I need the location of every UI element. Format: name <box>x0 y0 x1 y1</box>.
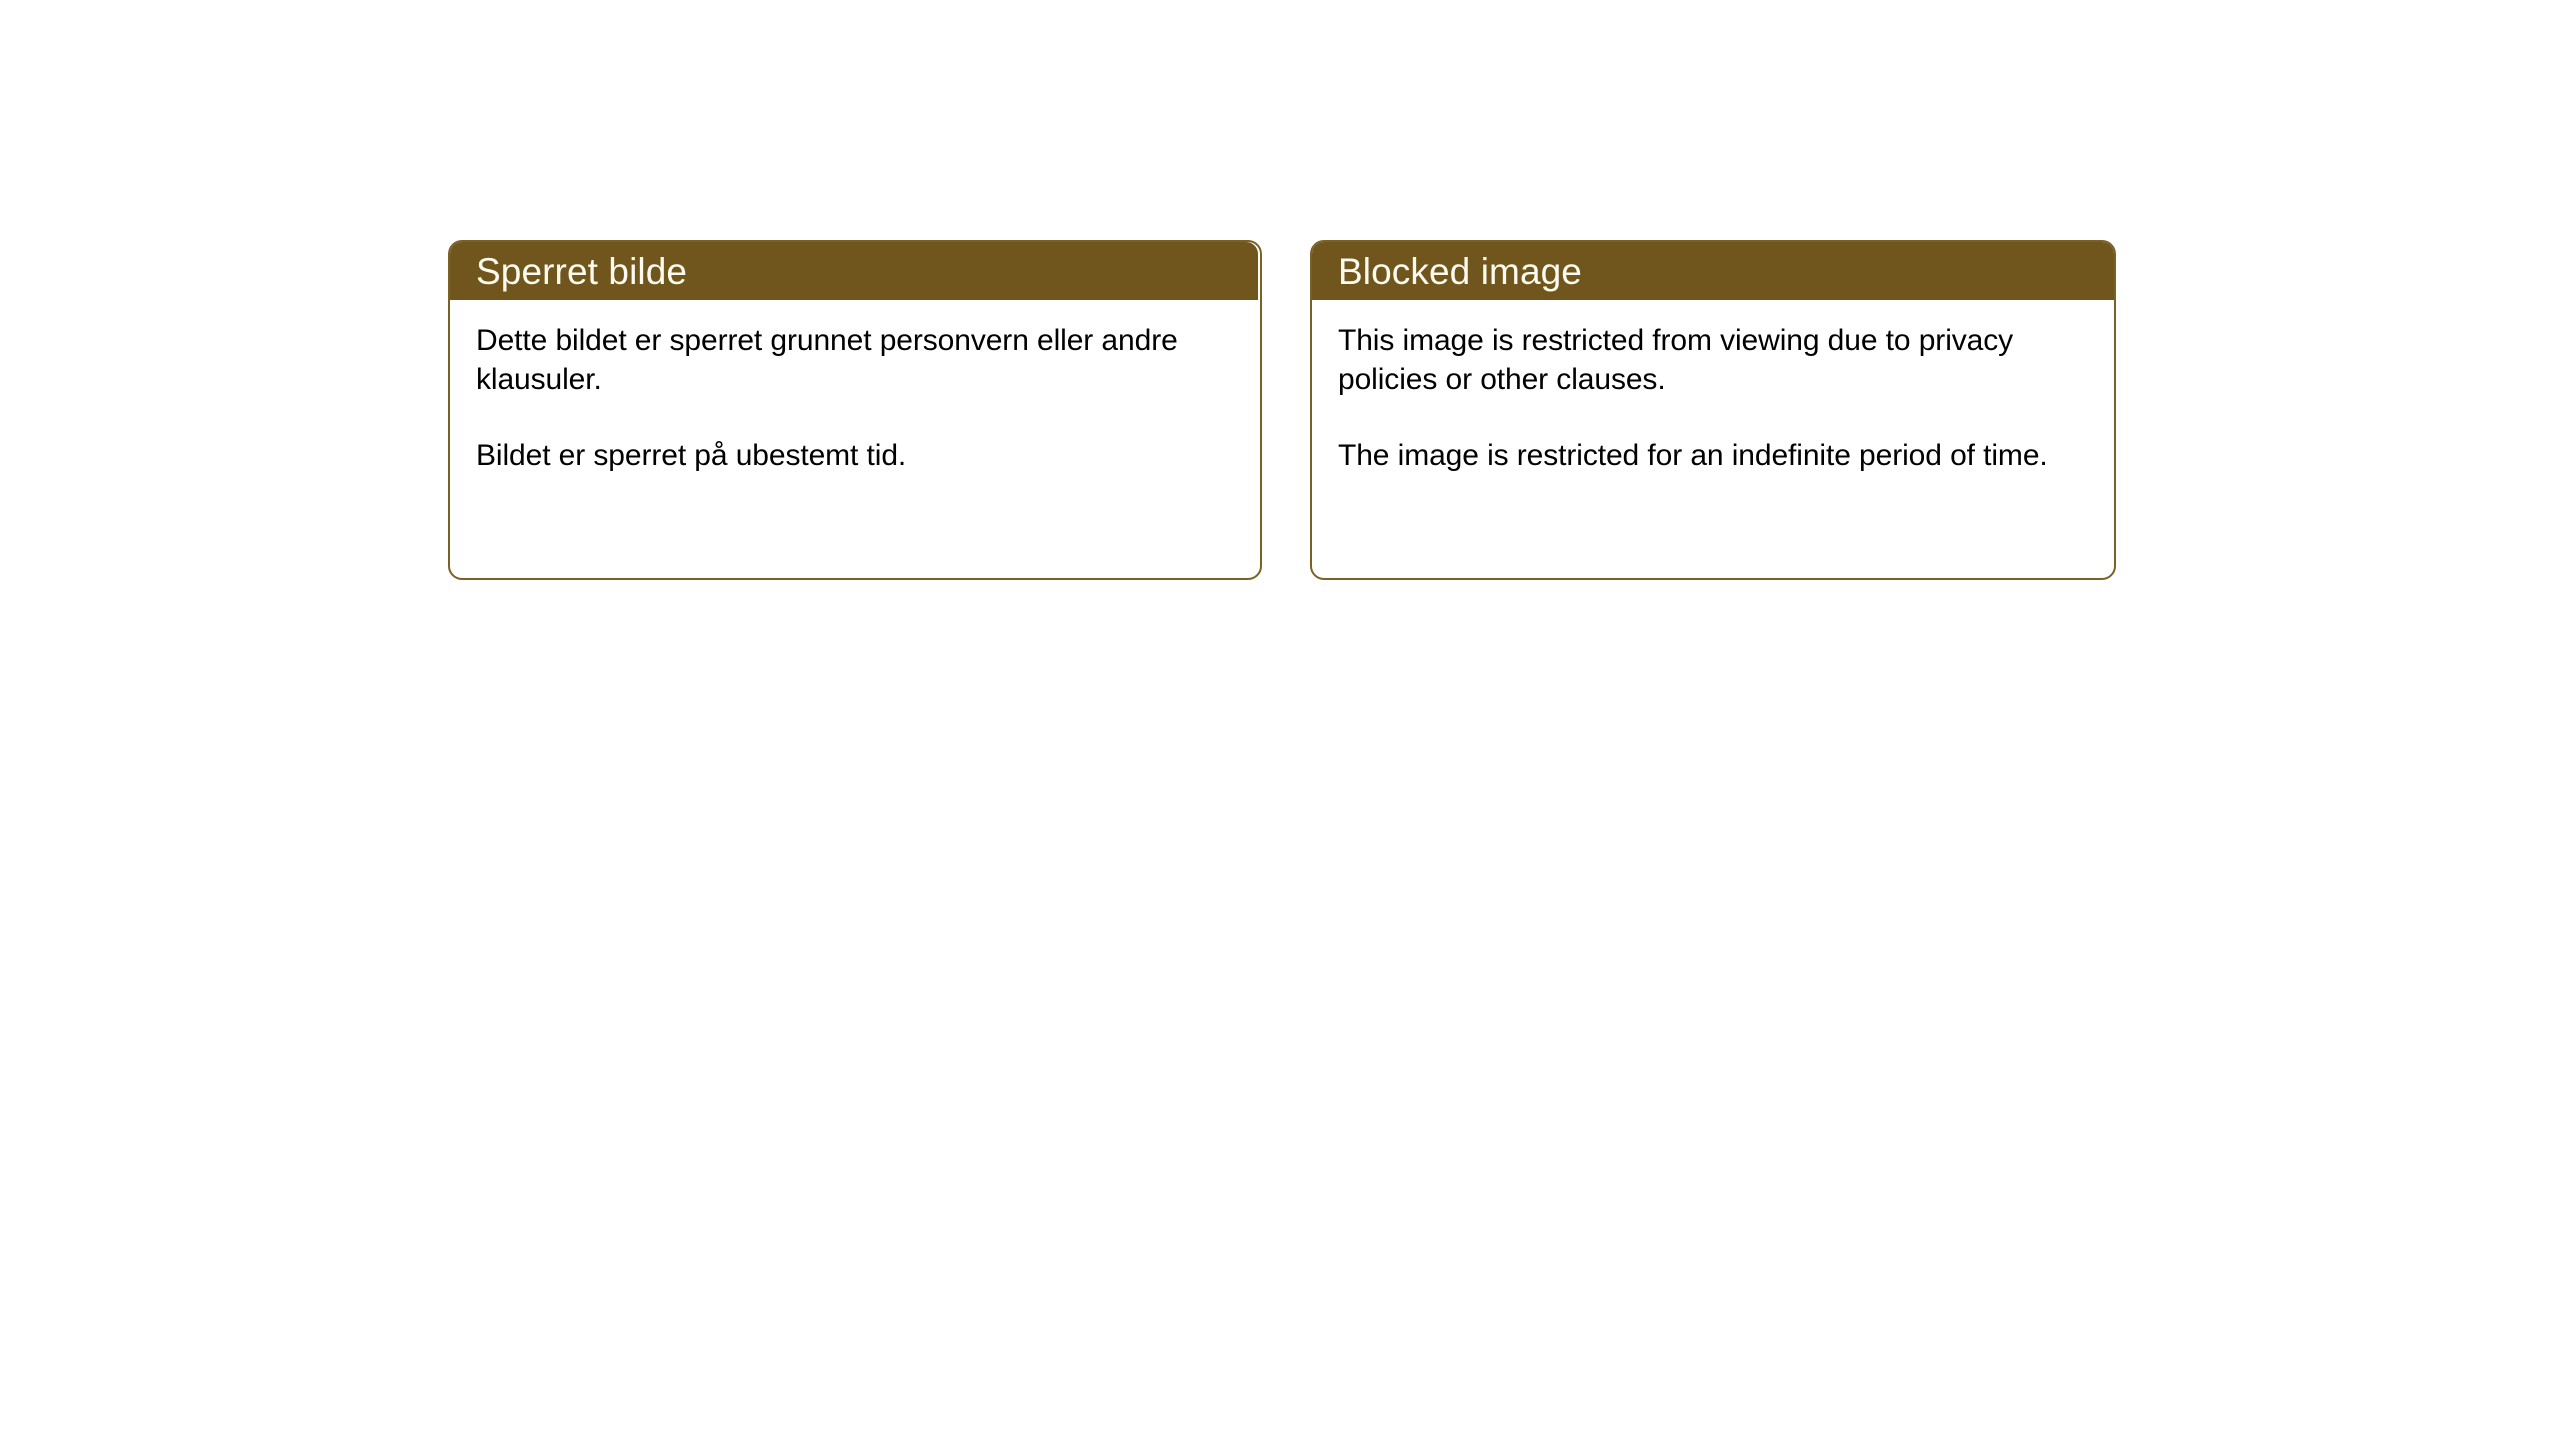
notice-header-english: Blocked image <box>1312 242 2114 300</box>
notice-paragraph: The image is restricted for an indefinit… <box>1338 437 2088 476</box>
blocked-image-notice-card-norwegian: Sperret bilde Dette bildet er sperret gr… <box>448 240 1262 580</box>
notice-paragraph: Dette bildet er sperret grunnet personve… <box>476 322 1234 399</box>
notice-title-norwegian: Sperret bilde <box>476 253 687 290</box>
notice-paragraph: Bildet er sperret på ubestemt tid. <box>476 437 1234 476</box>
notice-header-norwegian: Sperret bilde <box>450 242 1258 300</box>
page-canvas: Sperret bilde Dette bildet er sperret gr… <box>0 0 2560 1440</box>
notice-body-norwegian: Dette bildet er sperret grunnet personve… <box>450 300 1260 476</box>
notice-paragraph: This image is restricted from viewing du… <box>1338 322 2088 399</box>
notice-body-english: This image is restricted from viewing du… <box>1312 300 2114 476</box>
blocked-image-notice-card-english: Blocked image This image is restricted f… <box>1310 240 2116 580</box>
notice-title-english: Blocked image <box>1338 253 1582 290</box>
